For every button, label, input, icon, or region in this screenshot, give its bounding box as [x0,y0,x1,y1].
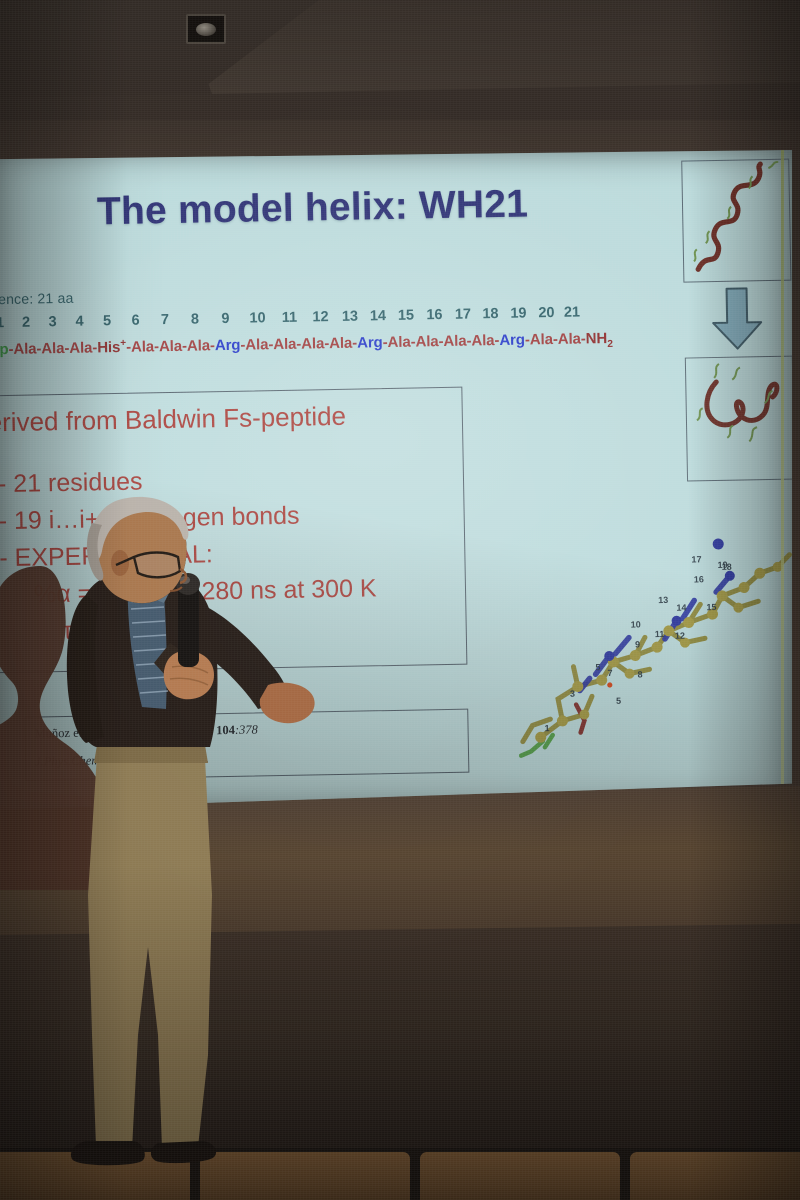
sequence-residue-ala-13: Ala [329,335,352,352]
sequence-residue-arg-14: Arg [357,334,383,351]
sequence-residue-ala-11: Ala [273,336,296,353]
svg-text:8: 8 [638,669,643,679]
sequence-residue-his-5: His+ [97,339,126,357]
svg-text:17: 17 [691,554,701,564]
svg-text:15: 15 [706,602,716,612]
spotlight-lens [196,23,216,36]
svg-text:10: 10 [631,619,641,629]
sequence-residue-ala-8: Ala [187,337,210,354]
residue-number: 16 [420,307,449,324]
terminus-subscript: 2 [607,339,613,350]
residue-number: 8 [180,311,210,328]
residue-number: 12 [305,309,336,326]
svg-text:13: 13 [658,595,668,605]
svg-text:3: 3 [570,689,575,699]
seat [630,1152,800,1200]
residue-number: 10 [241,310,274,327]
sequence-residue-ala-15: Ala [387,334,410,351]
residue-number: 13 [336,308,364,325]
sequence-residue-ala-16: Ala [415,333,438,350]
wh21-molecular-model: 1 3 5 7 5 8 9 10 11 12 13 14 15 [515,525,799,760]
svg-text:16: 16 [694,574,704,584]
residue-number: 21 [560,304,584,320]
unfolded-coil-panel [685,356,795,482]
microphone [178,583,199,667]
sequence-residue-ala-4: Ala [69,339,92,356]
residue-number: 15 [392,307,420,324]
residue-number: 3 [39,314,66,330]
residue-number-row: 123456789101112131415161718192021 [0,304,627,332]
folded-helix-panel [681,159,791,283]
sequence-residue-ala-7: Ala [159,338,182,355]
sequence-label: Sequence: 21 aa [0,290,74,308]
svg-text:14: 14 [676,603,686,613]
residue-number: 14 [364,308,392,325]
screen-right-edge [781,150,784,810]
sequence-c-terminus: NH2 [586,330,613,347]
residue-number: 2 [13,314,39,330]
svg-text:5: 5 [595,662,600,672]
sequence-residue-ala-12: Ala [301,335,324,352]
residue-number: 19 [504,305,533,322]
lecture-hall-scene: The model helix: WH21 Sequence: 21 aa 12… [0,0,800,1200]
sequence-residue-ala-20: Ala [530,331,553,348]
sequence-residue-ala-6: Ala [131,338,154,355]
residue-number: 5 [93,313,121,330]
residue-number: 18 [477,306,504,322]
svg-text:12: 12 [675,631,685,641]
sequence-residue-ala-10: Ala [245,336,268,353]
sequence-residue-ala-18: Ala [471,332,494,349]
residue-number: 20 [533,305,560,321]
sequence-residue-ala-17: Ala [443,333,466,350]
slide-title: The model helix: WH21 [97,180,638,234]
sequence-residue-ala-2: Ala [13,340,36,357]
svg-text:19: 19 [718,560,728,570]
coil-cartoon-icon [686,357,794,481]
residue-number: 9 [210,311,241,328]
residue-number: 11 [274,310,305,327]
speaker [62,495,322,1175]
residue-number: 17 [449,306,477,323]
residue-number: 1 [0,315,13,331]
residue-number: 6 [121,312,150,329]
seat [420,1152,620,1200]
svg-text:5: 5 [616,696,621,706]
peptide-sequence-chain: Ac-Trp-Ala-Ala-Ala-His+-Ala-Ala-Ala-Arg-… [0,328,642,361]
sequence-residue-ala-3: Ala [41,340,64,357]
svg-text:1: 1 [544,723,549,733]
sequence-residue-arg-19: Arg [499,332,525,349]
sequence-residue-ala-21: Ala [558,330,581,347]
sequence-residue-arg-9: Arg [215,337,241,354]
residue-number: 7 [150,312,180,329]
sequence-residue-trp-1: Trp [0,341,9,358]
transition-arrow-icon [709,286,766,351]
svg-text:11: 11 [655,629,665,639]
residue-number: 4 [66,313,93,329]
svg-text:9: 9 [635,639,640,649]
helix-cartoon-icon [682,160,790,282]
ceiling-spotlight-icon [186,14,226,44]
svg-text:7: 7 [607,668,612,678]
